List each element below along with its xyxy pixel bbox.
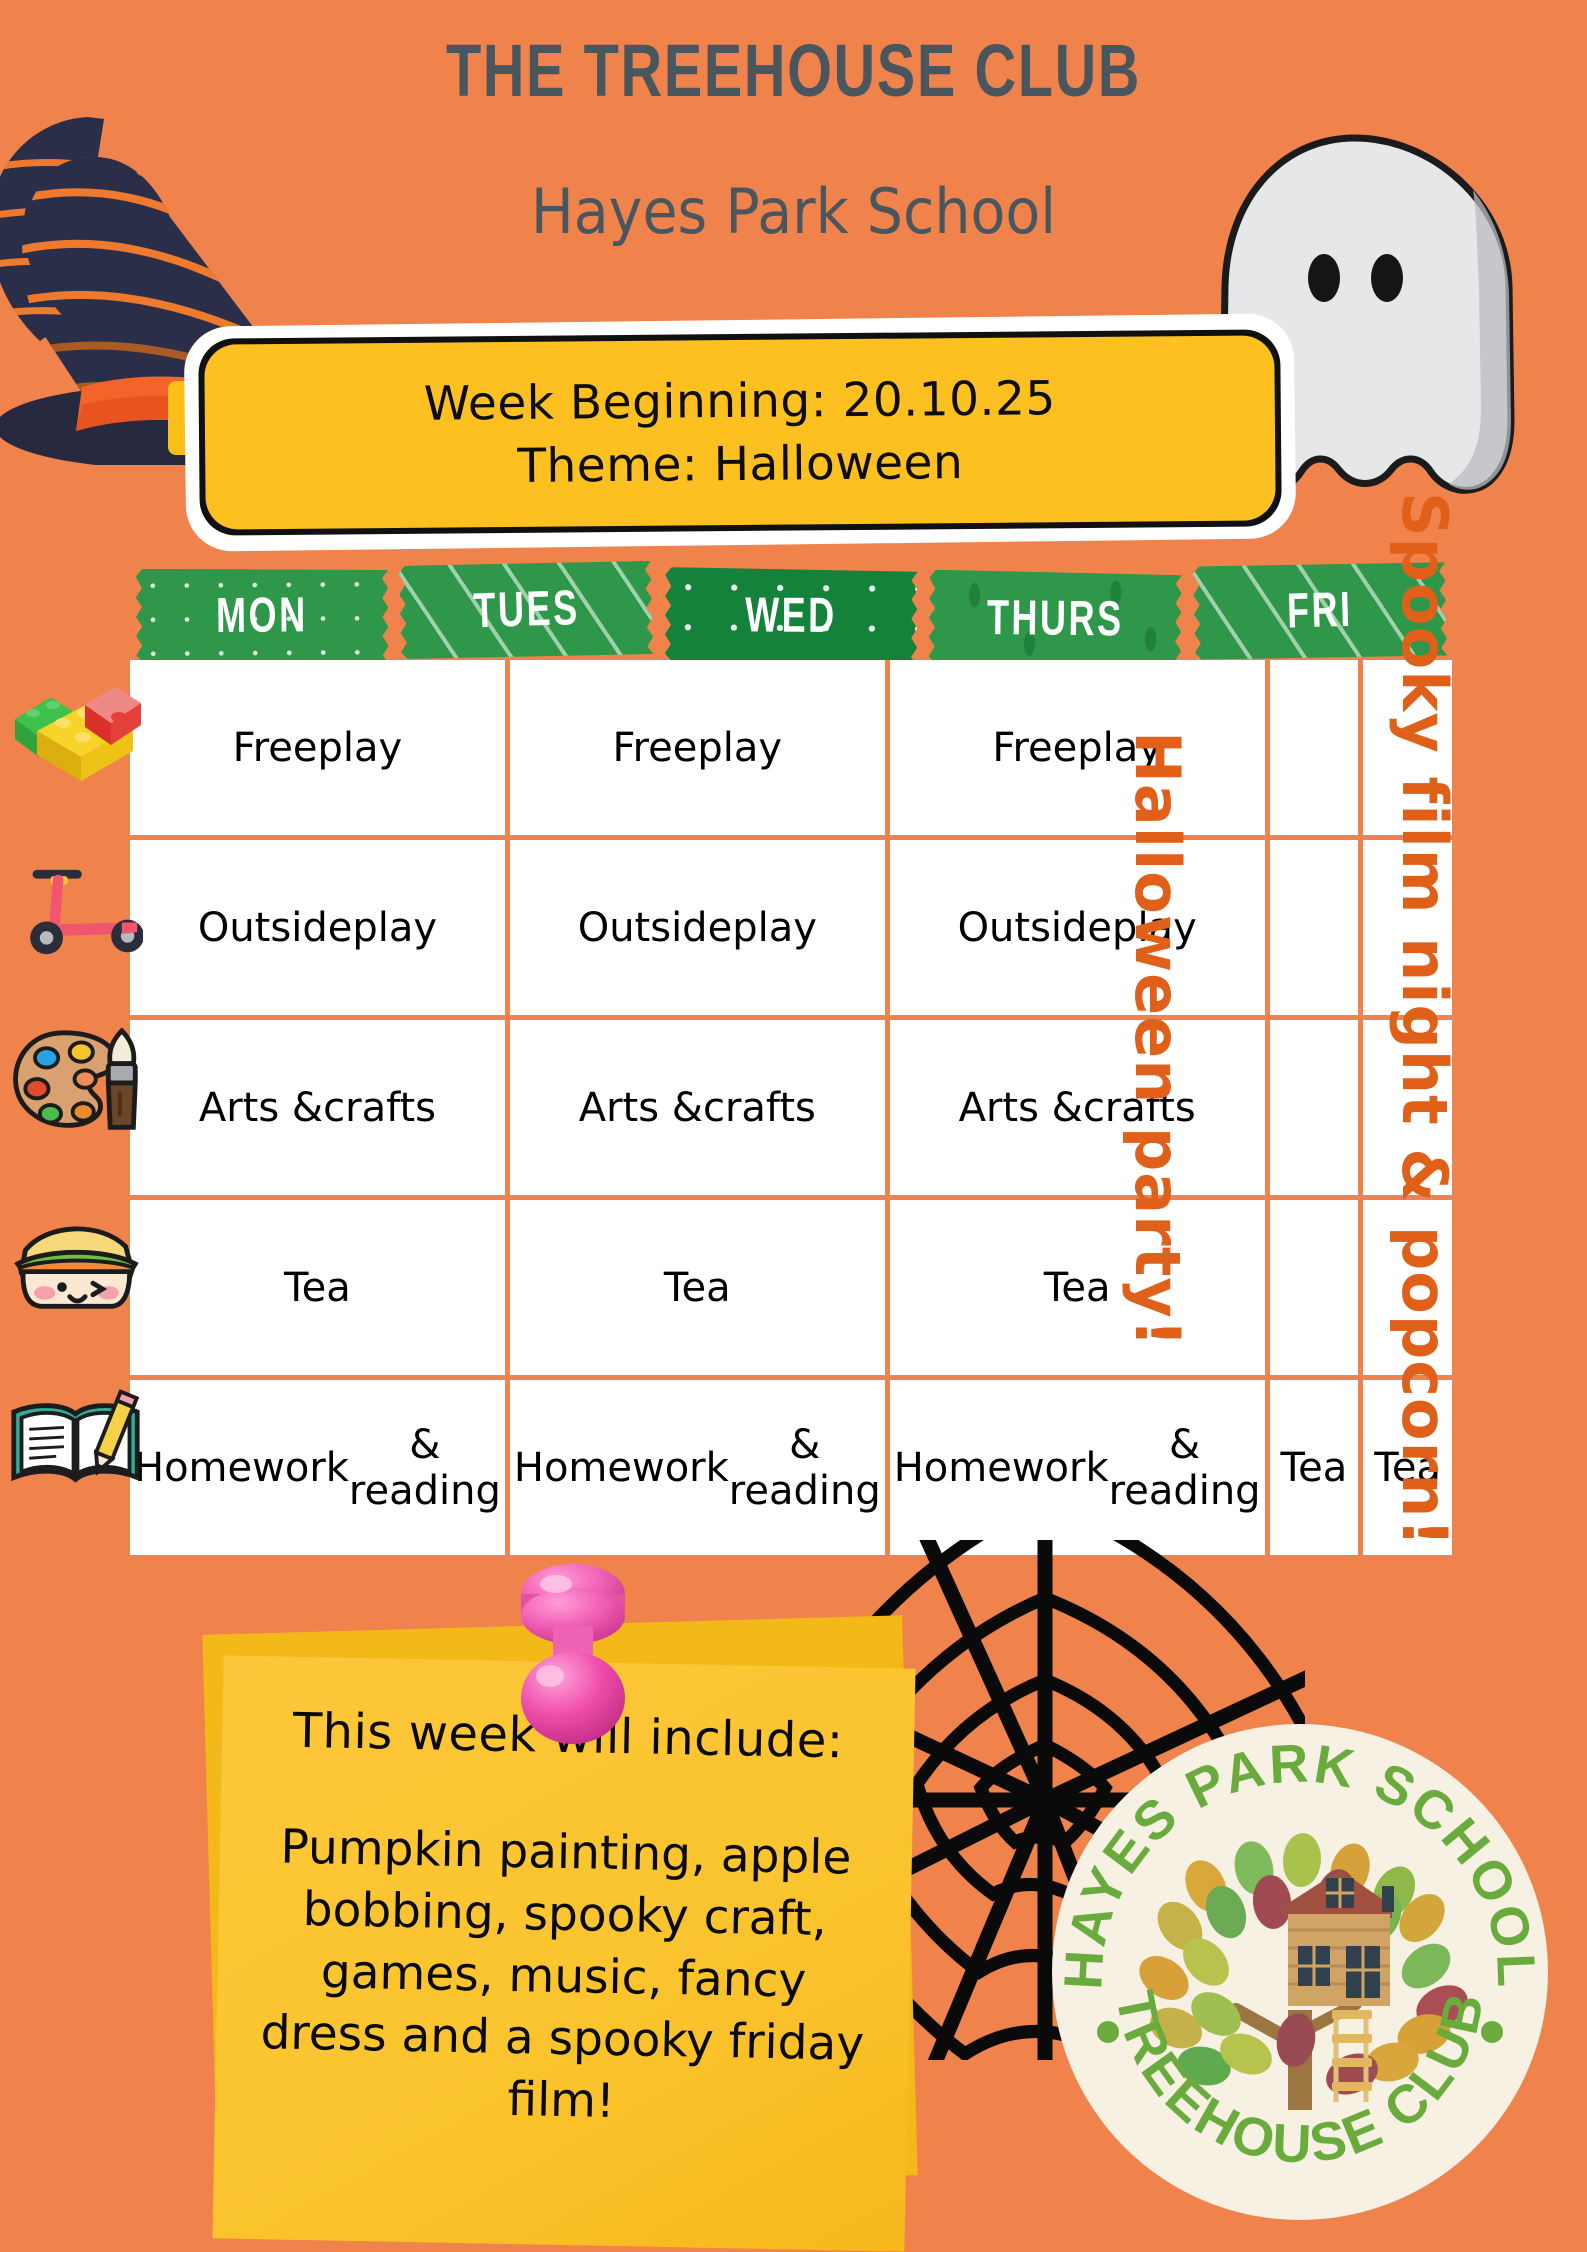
table-cell: Homework& reading — [890, 1380, 1265, 1555]
table-cell: Tea — [510, 1200, 885, 1375]
table-cell — [1363, 660, 1452, 835]
school-logo-badge: HAYES PARK SCHOOL TREEHOUSE CLUB — [1040, 1710, 1560, 2230]
day-header-tues: TUES — [399, 558, 654, 662]
table-cell — [1270, 1200, 1359, 1375]
sandwich-icon — [8, 1198, 143, 1323]
day-label: FRI — [1286, 582, 1353, 640]
table-cell: Tea — [890, 1200, 1265, 1375]
lego-bricks-icon — [8, 672, 143, 797]
sticky-note-body: Pumpkin painting, apple bobbing, spooky … — [249, 1816, 879, 2138]
table-cell: Outsideplay — [890, 840, 1265, 1015]
timetable-grid: Freeplay Freeplay Freeplay Outsideplay O… — [130, 660, 1452, 1555]
book-pencil-icon — [8, 1375, 143, 1500]
day-header-wed: WED — [664, 567, 917, 665]
day-header-thurs: THURS — [929, 570, 1182, 669]
day-label: TUES — [473, 580, 581, 639]
day-label: MON — [216, 588, 308, 645]
table-cell: Tea — [1270, 1380, 1359, 1555]
table-cell: Outsideplay — [130, 840, 505, 1015]
table-cell: Freeplay — [510, 660, 885, 835]
table-cell: Homework& reading — [510, 1380, 885, 1555]
table-cell: Freeplay — [130, 660, 505, 835]
timetable-day-headers: MON TUES WED THURS FRI — [130, 568, 1452, 664]
table-cell — [1270, 1020, 1359, 1195]
banner-body: Week Beginning: 20.10.25 Theme: Hallowee… — [204, 335, 1276, 529]
day-header-mon: MON — [136, 567, 389, 665]
pushpin-icon — [498, 1560, 648, 1750]
table-cell: Arts &crafts — [130, 1020, 505, 1195]
table-cell — [1363, 840, 1452, 1015]
week-beginning-text: Week Beginning: 20.10.25 — [423, 371, 1056, 432]
table-cell: Homework& reading — [130, 1380, 505, 1555]
day-label: WED — [745, 588, 837, 645]
scooter-icon — [8, 845, 143, 970]
day-label: THURS — [987, 590, 1124, 647]
table-cell — [1363, 1020, 1452, 1195]
table-cell: Arts &crafts — [510, 1020, 885, 1195]
day-header-fri: FRI — [1192, 559, 1447, 662]
table-cell: Tea — [1363, 1380, 1452, 1555]
theme-text: Theme: Halloween — [517, 435, 963, 494]
table-cell — [1270, 660, 1359, 835]
table-cell — [1270, 840, 1359, 1015]
poster-canvas: THE TREEHOUSE CLUB Hayes Park School — [0, 0, 1587, 2245]
page-title: THE TREEHOUSE CLUB — [175, 28, 1413, 113]
paint-palette-icon — [8, 1018, 143, 1143]
table-cell: Tea — [130, 1200, 505, 1375]
week-banner: Week Beginning: 20.10.25 Theme: Hallowee… — [185, 320, 1295, 545]
table-cell — [1363, 1200, 1452, 1375]
table-cell: Arts &crafts — [890, 1020, 1265, 1195]
table-cell: Outsideplay — [510, 840, 885, 1015]
table-cell: Freeplay — [890, 660, 1265, 835]
